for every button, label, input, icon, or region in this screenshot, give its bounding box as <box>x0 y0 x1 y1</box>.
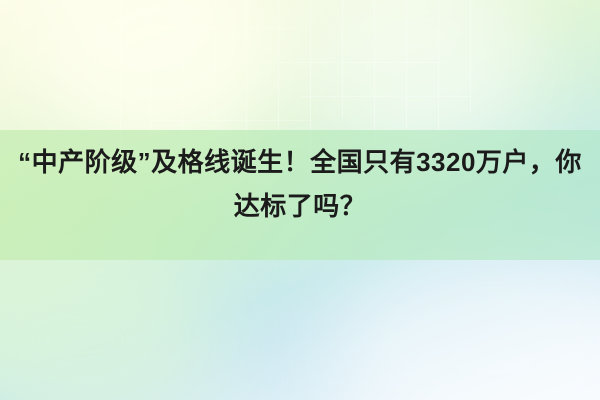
banner-image: “中产阶级”及格线诞生！全国只有3320万户，你达标了吗？ <box>0 0 600 400</box>
light-glow-bottom-left <box>0 240 220 400</box>
light-glow-bottom-right <box>330 250 600 400</box>
headline-text: “中产阶级”及格线诞生！全国只有3320万户，你达标了吗？ <box>0 140 600 228</box>
